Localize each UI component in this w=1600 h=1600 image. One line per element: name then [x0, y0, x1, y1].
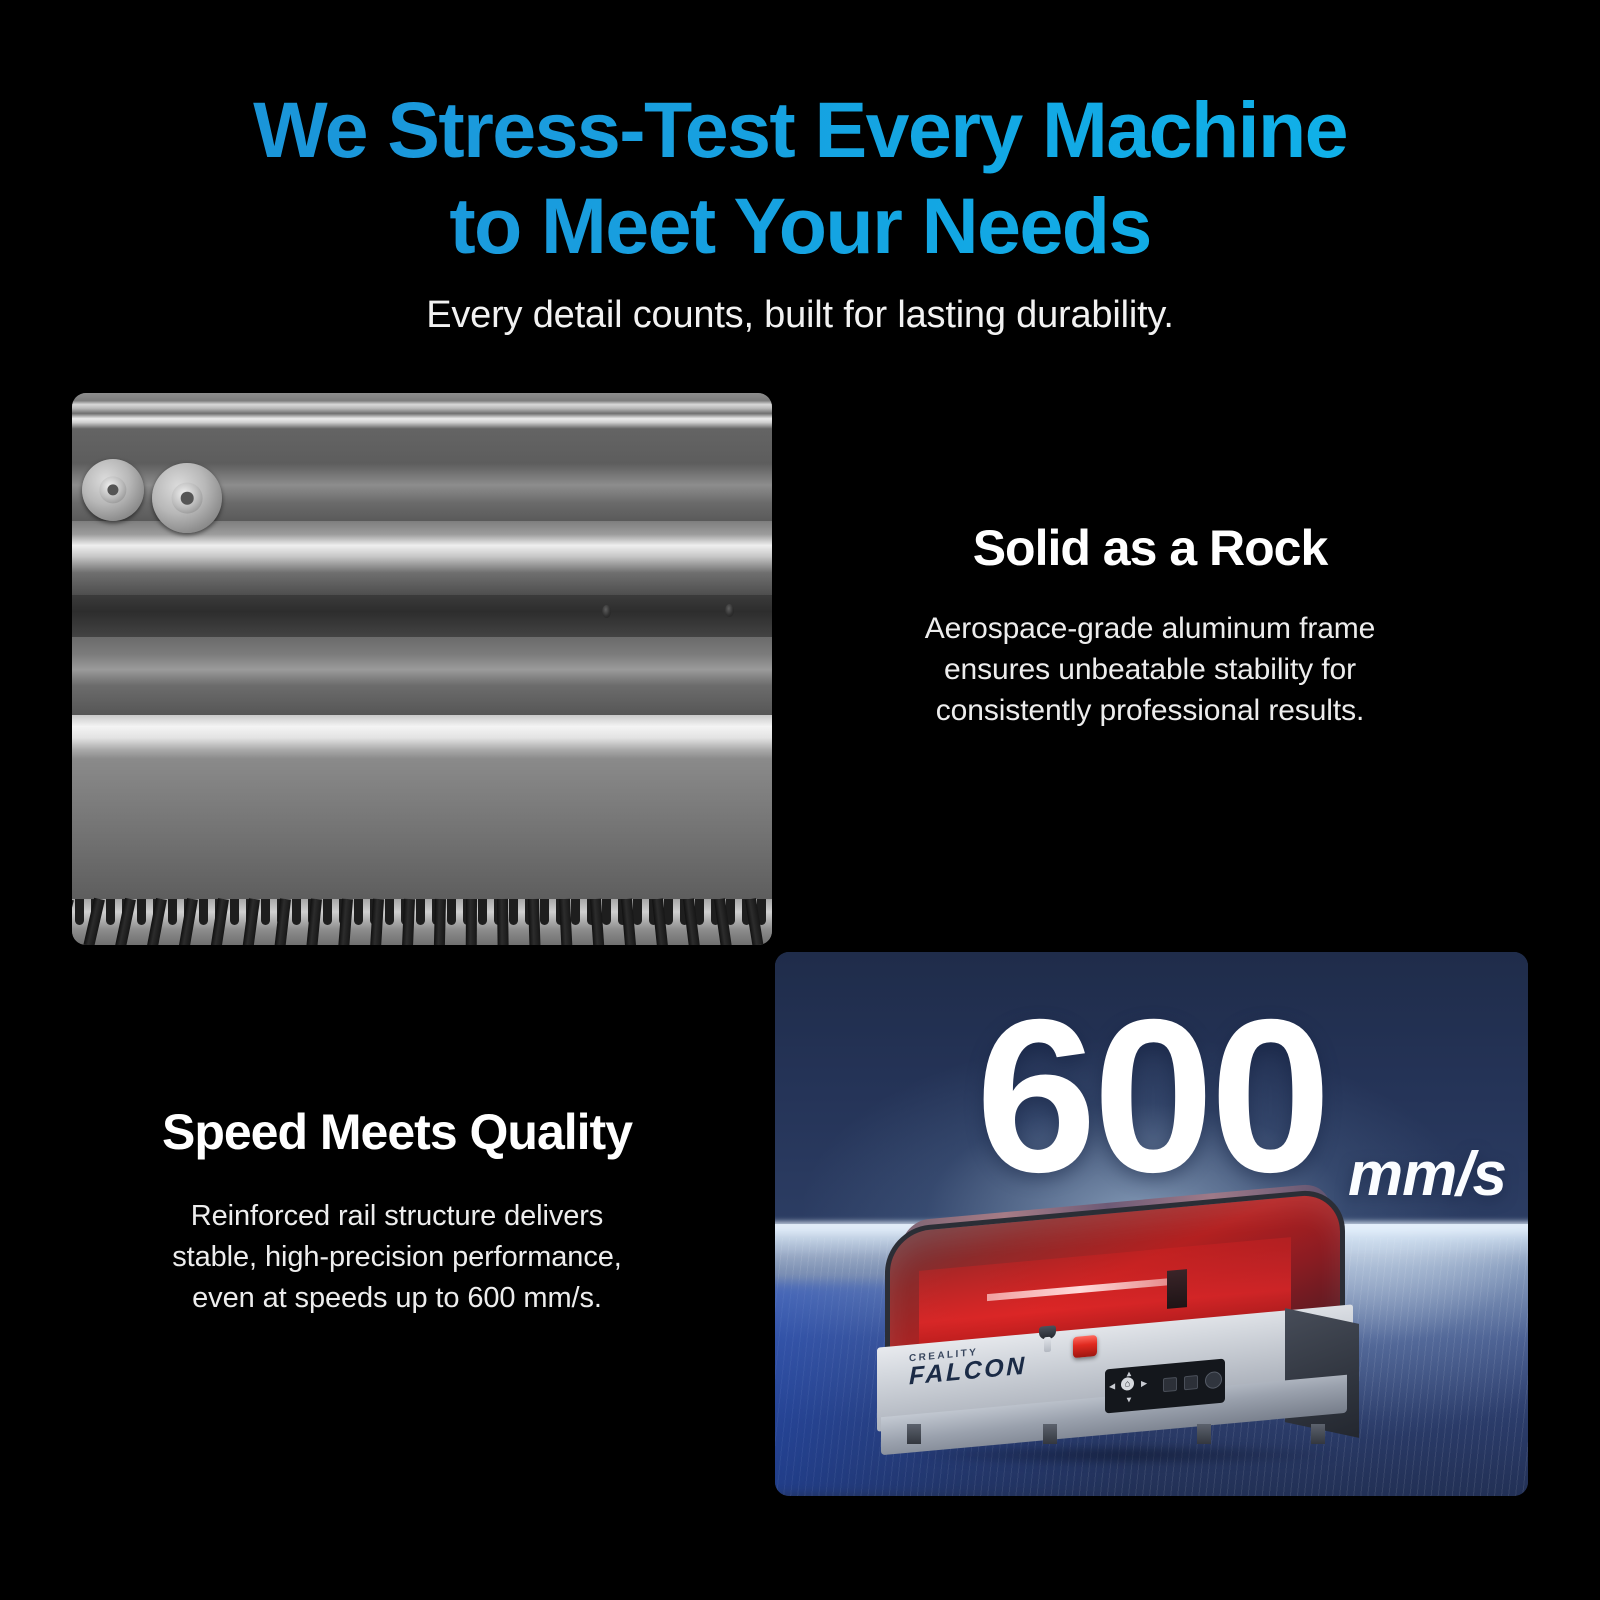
feature-title-solid-as-a-rock: Solid as a Rock — [840, 518, 1460, 578]
speed-unit-mms: mm/s — [1348, 1144, 1506, 1206]
feature-title-speed-meets-quality: Speed Meets Quality — [60, 1102, 734, 1162]
idler-pulley-right — [152, 463, 222, 533]
rail-extrusion-mid — [72, 521, 772, 595]
page-subtitle: Every detail counts, built for lasting d… — [0, 290, 1600, 340]
idler-pulley-left — [82, 459, 144, 521]
infographic-page: We Stress-Test Every Machine to Meet You… — [0, 0, 1600, 1600]
rail-extrusion-lower — [72, 637, 772, 715]
pulley-bore — [181, 492, 194, 505]
falcon-laser-engraver: CREALITY FALCON ▲ ◀ ▶ ▼ ⌂ — [867, 1208, 1387, 1466]
rail-highlight-band — [72, 715, 772, 759]
feature-body-speed-meets-quality: Reinforced rail structure delivers stabl… — [62, 1196, 732, 1319]
rail-screw-hole — [725, 604, 734, 617]
rail-front-face — [72, 759, 772, 899]
bed-slats — [72, 933, 772, 945]
rail-screw-hole — [602, 605, 611, 618]
aluminum-rail-photo — [72, 393, 772, 945]
machine-legs — [867, 1208, 1387, 1466]
page-headline: We Stress-Test Every Machine to Meet You… — [0, 82, 1600, 274]
falcon-product-photo: 600 mm/s CREALITY FALCON ▲ ◀ — [775, 952, 1528, 1496]
feature-body-solid-as-a-rock: Aerospace-grade aluminum frame ensures u… — [830, 608, 1470, 731]
rail-shadow-gap — [72, 595, 772, 637]
